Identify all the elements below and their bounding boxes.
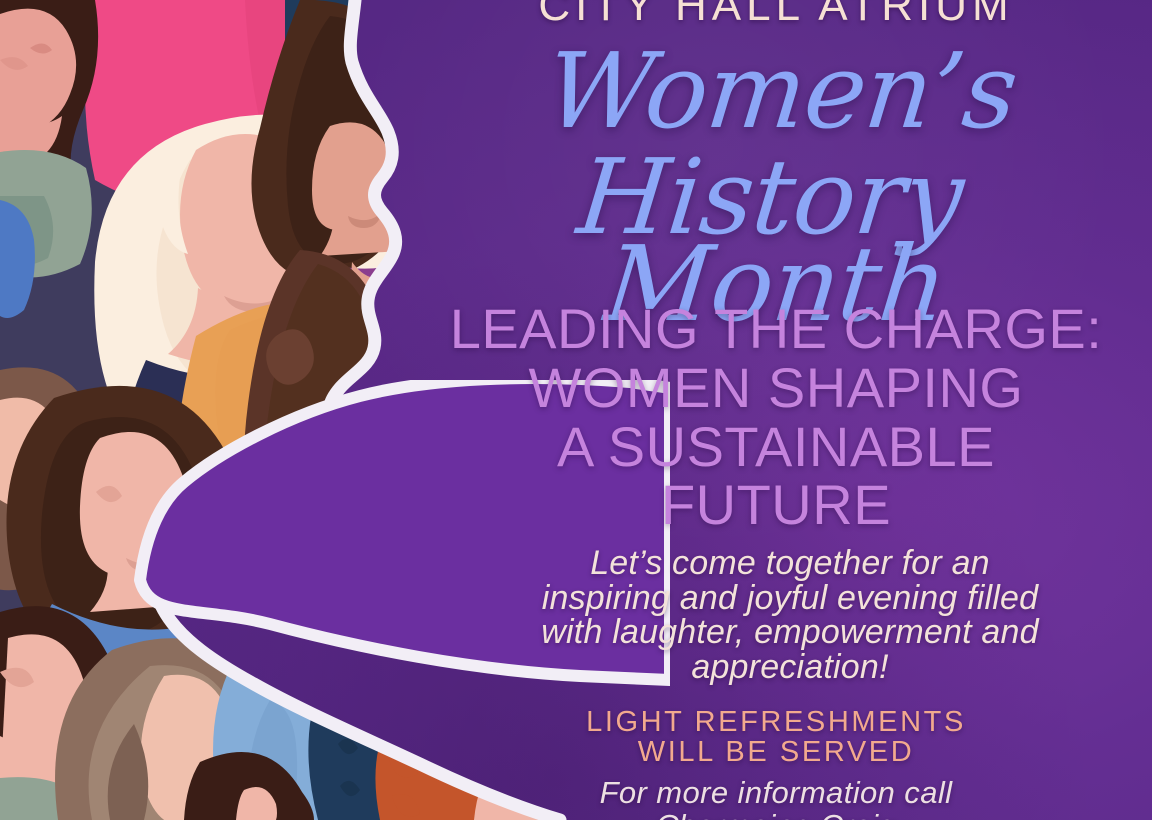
womens-history-month-poster: CITY HALL ATRIUM Women’s History Month L… [0, 0, 1152, 820]
contact-info: For more information call Charmaine Crai… [400, 776, 1152, 820]
contact-line-1: For more information call [400, 776, 1152, 809]
refreshments-line-1: LIGHT REFRESHMENTS [400, 708, 1152, 738]
poster-text-column: CITY HALL ATRIUM Women’s History Month L… [400, 0, 1152, 820]
venue-line: CITY HALL ATRIUM [400, 0, 1152, 28]
headline-line-4: FUTURE [410, 476, 1142, 535]
headline-line-2: WOMEN SHAPING [410, 359, 1142, 418]
script-title: Women’s History Month [400, 38, 1152, 336]
headline: LEADING THE CHARGE: WOMEN SHAPING A SUST… [410, 300, 1142, 535]
blurb-line-2: inspiring and joyful evening filled [440, 581, 1140, 616]
headline-line-3: A SUSTAINABLE [410, 418, 1142, 477]
blurb-line-1: Let’s come together for an [440, 546, 1140, 581]
refreshments-line-2: WILL BE SERVED [400, 738, 1152, 768]
refreshments-note: LIGHT REFRESHMENTS WILL BE SERVED [400, 708, 1152, 767]
blurb-line-4: appreciation! [440, 650, 1140, 685]
headline-line-1: LEADING THE CHARGE: [410, 300, 1142, 359]
script-title-line1: Women’s History [389, 38, 1152, 250]
contact-line-2: Charmaine Craig [400, 809, 1152, 820]
blurb-line-3: with laughter, empowerment and [440, 615, 1140, 650]
invitation-blurb: Let’s come together for an inspiring and… [440, 546, 1140, 685]
